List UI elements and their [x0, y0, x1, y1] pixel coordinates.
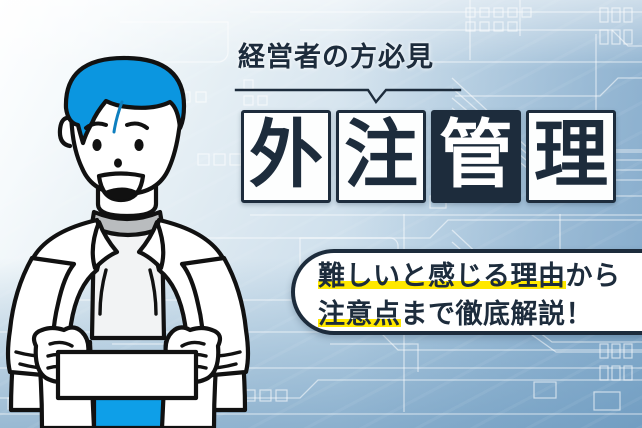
title-kanji-char-1: 外 [249, 118, 323, 192]
subtitle-line-1-highlight: 難しいと感じる理由 [318, 261, 566, 291]
title-kanji-box-3: 管 [431, 110, 521, 203]
kicker-underline-with-notch [234, 86, 462, 106]
title-kanji-char-4: 理 [534, 118, 608, 192]
subtitle-line-1-rest: から [566, 261, 621, 291]
title-kanji-box-4: 理 [526, 110, 616, 203]
subtitle-line-2-highlight: 注意点 [318, 299, 401, 329]
subtitle-line-1: 難しいと感じる理由から [318, 257, 642, 295]
character-illustration [2, 52, 252, 428]
page-kicker-heading: 経営者の方必見 [238, 44, 478, 71]
title-kanji-box-1: 外 [241, 110, 331, 203]
subtitle-speech-bubble-text: 難しいと感じる理由から 注意点まで徹底解説！ [318, 257, 642, 333]
subtitle-line-2: 注意点まで徹底解説！ [318, 295, 642, 333]
subtitle-line-2-rest: まで徹底解説！ [401, 299, 594, 329]
title-kanji-boxes: 外 注 管 理 [241, 110, 616, 203]
title-kanji-char-3: 管 [439, 118, 513, 192]
title-kanji-box-2: 注 [336, 110, 426, 203]
title-kanji-char-2: 注 [344, 118, 418, 192]
banner-root: 経営者の方必見 外 注 管 理 難しいと感じる理由から 注意点まで徹底解説！ 白… [0, 0, 642, 428]
